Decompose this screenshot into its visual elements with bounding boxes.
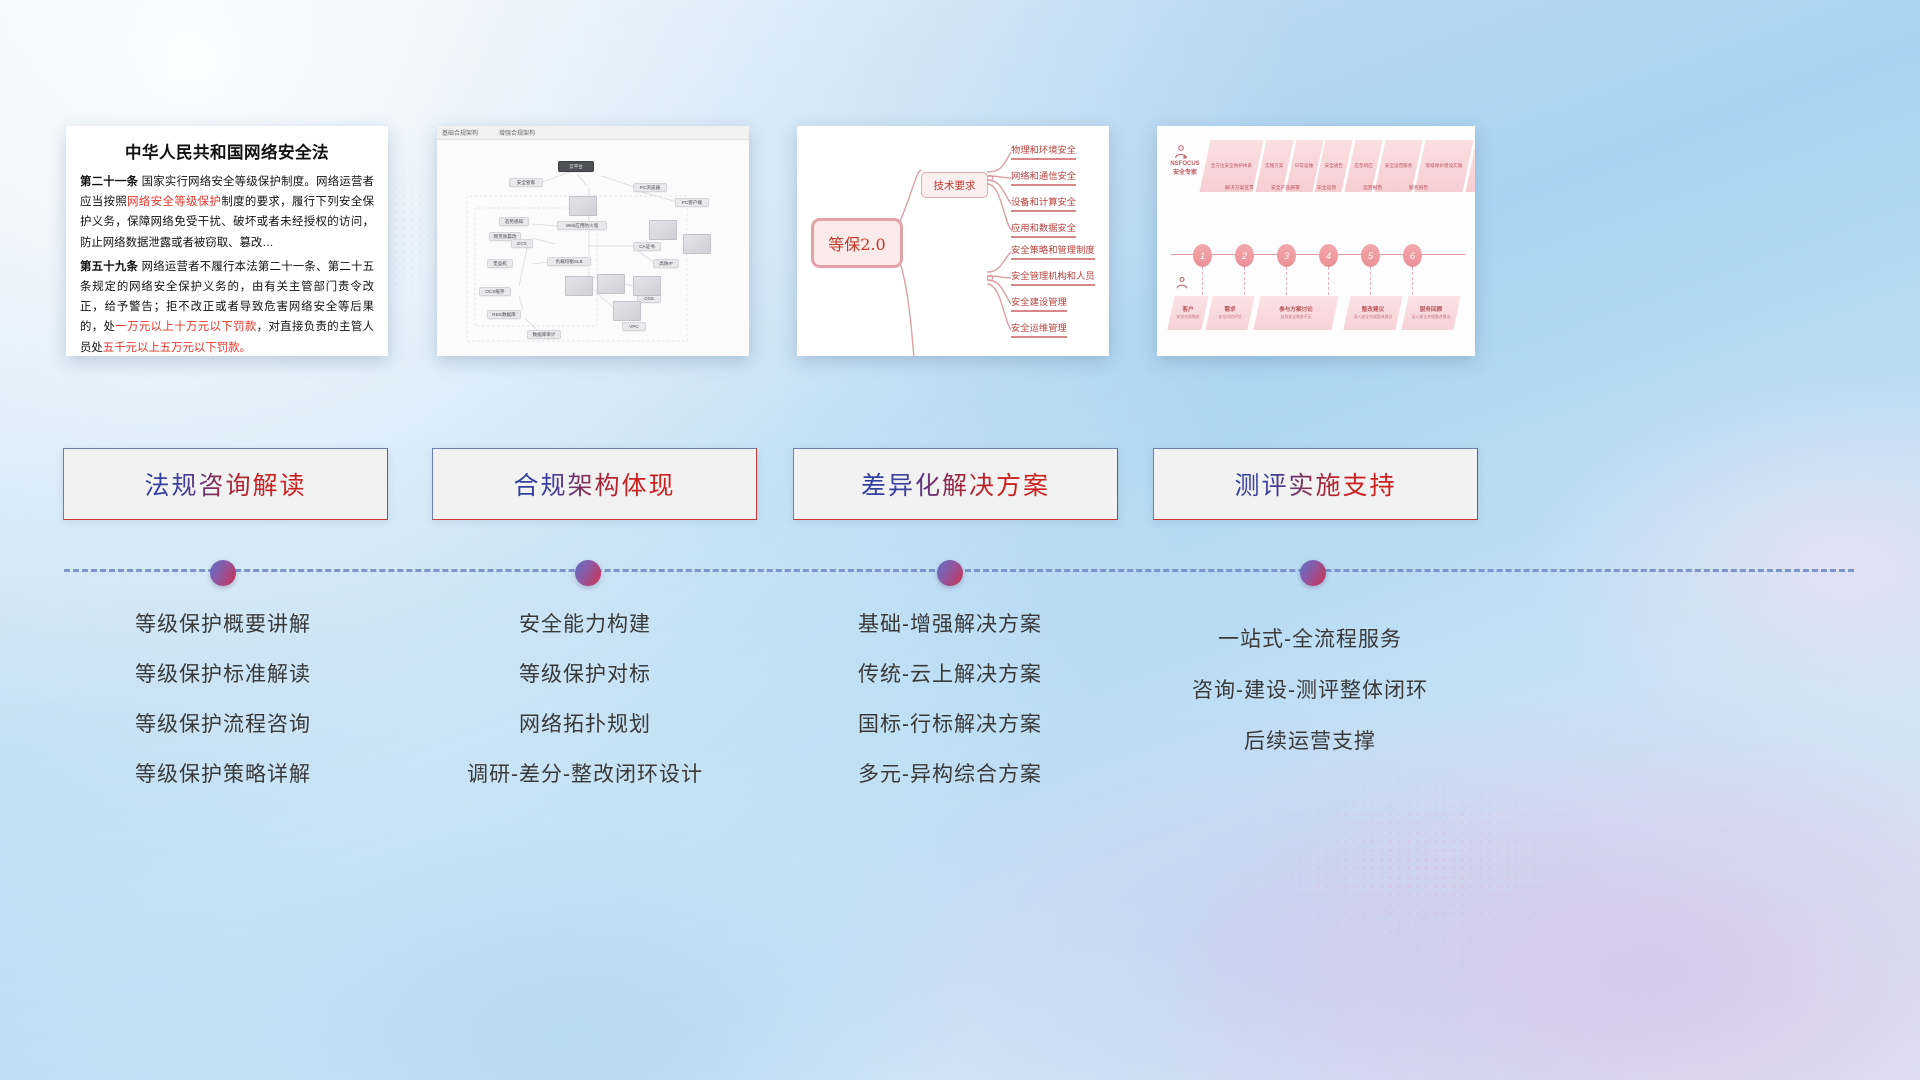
mindmap-leaf-node[interactable]: 物理和环境安全 [1011, 142, 1076, 160]
nsfocus-bottom-box-title: 需求 [1224, 306, 1235, 314]
architecture-node: CA证书 [633, 242, 661, 251]
list-item: 等级保护标准解读 [43, 650, 403, 700]
architecture-server-icon [683, 234, 711, 254]
law-article-label-59: 第五十九条 [80, 261, 138, 273]
nsfocus-canvas: 全方位安全防护体系实施方案日常运维安全通告应急响应安全运营服务等级保护建设实施等… [1157, 126, 1475, 356]
list-item: 网络拓扑规划 [405, 700, 765, 750]
nsfocus-step-tick [1328, 267, 1330, 295]
list-item: 等级保护策略详解 [43, 750, 403, 800]
architecture-server-icon [649, 220, 677, 240]
mindmap-leaf-node[interactable]: 安全运维管理 [1011, 320, 1067, 338]
mindmap-card[interactable]: 等保2.0 技术要求物理和环境安全网络和通信安全设备和计算安全应用和数据安全管理… [797, 126, 1109, 356]
mindmap-canvas: 等保2.0 技术要求物理和环境安全网络和通信安全设备和计算安全应用和数据安全管理… [797, 126, 1109, 356]
list-item: 调研-差分-整改闭环设计 [405, 750, 765, 800]
nsfocus-bottom-box-sub: 自身安全需求不足 [1280, 314, 1311, 320]
section-heading-row: 法规咨询解读 合规架构体现 差异化解决方案 测评实施支持 [0, 448, 1920, 520]
architecture-server-icon [597, 274, 625, 294]
nsfocus-bottom-box-text: 需求安全风险评估 [1209, 296, 1251, 330]
law-seg-59-3-highlight: 五千元以上五万元以下罚款。 [103, 342, 251, 354]
timeline-dot-3[interactable] [937, 560, 963, 586]
mindmap-leaf-node[interactable]: 应用和数据安全 [1011, 220, 1076, 238]
item-list-compliance-architecture: 安全能力构建等级保护对标网络拓扑规划调研-差分-整改闭环设计 [405, 600, 765, 800]
architecture-node: OCS缓存 [479, 287, 511, 296]
nsfocus-brand: NSFOCUS 安全专家 [1163, 160, 1207, 178]
architecture-canvas: 基础合规架构 增强合规架构 [437, 126, 749, 356]
security-expert-icon [1173, 144, 1189, 160]
nsfocus-bottom-box-title: 客户 [1182, 306, 1193, 314]
item-list-differentiated-solution: 基础-增强解决方案传统-云上解决方案国标-行标解决方案多元-异构综合方案 [770, 600, 1130, 800]
timeline-dot-2[interactable] [575, 560, 601, 586]
section-heading-label-3: 测评实施支持 [1234, 466, 1396, 502]
nsfocus-step-node[interactable]: 4 [1319, 244, 1338, 267]
architecture-node: Web应用防火墙 [557, 221, 607, 230]
law-seg-21-1-highlight: 网络安全等级保护 [127, 196, 221, 208]
nsfocus-top-label: 解决方案宣贯 [1225, 184, 1254, 191]
architecture-server-icon [569, 196, 597, 216]
architecture-node: 负载均衡SLB [547, 257, 591, 266]
nsfocus-bottom-box-sub: 安全风险评估 [1218, 314, 1241, 320]
nsfocus-step-tick [1412, 267, 1414, 295]
nsfocus-bottom-box-text: 整改建议深入安全合规整改建议 [1347, 296, 1399, 330]
list-item: 等级保护流程咨询 [43, 700, 403, 750]
thumbnail-card-row: 中华人民共和国网络安全法 第二十一条 国家实行网络安全等级保护制度。网络运营者应… [0, 126, 1920, 362]
list-item: 基础-增强解决方案 [770, 600, 1130, 650]
list-item: 等级保护概要讲解 [43, 600, 403, 650]
nsfocus-top-label: 安全产品部署 [1271, 184, 1300, 191]
list-item: 安全能力构建 [405, 600, 765, 650]
nsfocus-bottom-box-text: 服务回顾深入安全合规整改建议 [1405, 296, 1457, 330]
section-heading-label-2: 差异化解决方案 [861, 466, 1050, 502]
client-person-icon [1175, 276, 1189, 290]
mindmap-leaf-node[interactable]: 安全管理机构和人员 [1011, 268, 1095, 286]
nsfocus-brand-sub: 安全专家 [1163, 169, 1207, 178]
section-item-lists: 等级保护概要讲解等级保护标准解读等级保护流程咨询等级保护策略详解 安全能力构建等… [0, 600, 1920, 850]
architecture-server-icon [613, 301, 641, 321]
list-item: 传统-云上解决方案 [770, 650, 1130, 700]
architecture-node: PC客户端 [675, 198, 709, 207]
architecture-server-icon [633, 276, 661, 296]
nsfocus-step-tick [1244, 267, 1246, 295]
architecture-node: ECS [511, 239, 533, 248]
architecture-diagram-card[interactable]: 基础合规架构 增强合规架构 [437, 126, 749, 356]
list-item: 一站式-全流程服务 [1130, 614, 1490, 665]
mindmap-leaf-node[interactable]: 安全策略和管理制度 [1011, 242, 1095, 260]
nsfocus-step-node[interactable]: 1 [1193, 244, 1212, 267]
nsfocus-step-node[interactable]: 3 [1277, 244, 1296, 267]
architecture-node: 云平台 [558, 161, 594, 172]
nsfocus-bottom-box-sub: 深入安全合规整改建议 [1412, 314, 1451, 320]
architecture-node: RDS数据库 [487, 310, 521, 319]
nsfocus-step-node[interactable]: 2 [1235, 244, 1254, 267]
nsfocus-step-tick [1286, 267, 1288, 295]
law-card-body: 中华人民共和国网络安全法 第二十一条 国家实行网络安全等级保护制度。网络运营者应… [66, 126, 388, 356]
nsfocus-chip-band: 全方位安全防护体系实施方案日常运维安全通告应急响应安全运营服务等级保护建设实施等… [1165, 140, 1467, 192]
law-card-title: 中华人民共和国网络安全法 [80, 139, 374, 163]
item-list-evaluation-support: 一站式-全流程服务咨询-建设-测评整体闭环后续运营支撑 [1130, 614, 1490, 767]
architecture-node: 数据库审计 [527, 330, 561, 339]
nsfocus-bottom-box-sub: 深入安全合规整改建议 [1354, 314, 1393, 320]
nsfocus-timeline-card[interactable]: 全方位安全防护体系实施方案日常运维安全通告应急响应安全运营服务等级保护建设实施等… [1157, 126, 1475, 356]
law-paragraph-21: 第二十一条 国家实行网络安全等级保护制度。网络运营者应当按照网络安全等级保护制度… [80, 172, 374, 253]
architecture-node: 高防IP [653, 259, 679, 268]
mindmap-branch-node[interactable]: 技术要求 [921, 172, 988, 198]
mindmap-leaf-node[interactable]: 网络和通信安全 [1011, 168, 1076, 186]
nsfocus-step-tick [1370, 267, 1372, 295]
nsfocus-bottom-box-sub: 安全合规需求 [1176, 314, 1199, 320]
mindmap-root-node[interactable]: 等保2.0 [811, 218, 903, 268]
law-text-card[interactable]: 中华人民共和国网络安全法 第二十一条 国家实行网络安全等级保护制度。网络运营者应… [66, 126, 388, 356]
nsfocus-top-label: 运营报告 [1363, 184, 1382, 191]
list-item: 后续运营支撑 [1130, 716, 1490, 767]
nsfocus-top-label: 安全运营 [1317, 184, 1336, 191]
section-heading-label-0: 法规咨询解读 [144, 466, 306, 502]
architecture-node: PC浏览器 [633, 183, 667, 192]
mindmap-leaf-node[interactable]: 安全建设管理 [1011, 294, 1067, 312]
law-article-label-21: 第二十一条 [80, 176, 138, 188]
nsfocus-step-node[interactable]: 6 [1403, 244, 1422, 267]
nsfocus-top-label: 服务报告 [1409, 184, 1428, 191]
section-heading-box-differentiated-solution[interactable]: 差异化解决方案 [793, 448, 1118, 520]
section-heading-box-evaluation-support[interactable]: 测评实施支持 [1153, 448, 1478, 520]
list-item: 国标-行标解决方案 [770, 700, 1130, 750]
nsfocus-bottom-box-text: 参与方案讨论自身安全需求不足 [1257, 296, 1335, 330]
nsfocus-brand-name: NSFOCUS [1163, 160, 1207, 169]
nsfocus-bottom-box-text: 客户安全合规需求 [1171, 296, 1205, 330]
timeline-strip [0, 560, 1920, 588]
list-item: 咨询-建设-测评整体闭环 [1130, 665, 1490, 716]
architecture-server-icon [565, 276, 593, 296]
mindmap-leaf-node[interactable]: 设备和计算安全 [1011, 194, 1076, 212]
nsfocus-bottom-box-title: 参与方案讨论 [1279, 306, 1313, 314]
list-item: 等级保护对标 [405, 650, 765, 700]
nsfocus-step-tick [1202, 267, 1204, 295]
section-heading-box-compliance-architecture[interactable]: 合规架构体现 [432, 448, 757, 520]
architecture-node: VPC [622, 322, 646, 331]
architecture-node: 堡垒机 [487, 259, 513, 268]
architecture-node: 安全管家 [509, 178, 543, 187]
timeline-dot-1[interactable] [210, 560, 236, 586]
law-paragraph-59: 第五十九条 网络运营者不履行本法第二十一条、第二十五条规定的网络安全保护义务的，… [80, 257, 374, 356]
list-item: 多元-异构综合方案 [770, 750, 1130, 800]
nsfocus-chip-label: 等级保护测评整改建议 [1471, 140, 1475, 192]
timeline-dot-4[interactable] [1300, 560, 1326, 586]
architecture-node: 态势感知 [499, 217, 529, 226]
section-heading-box-regulation-consulting[interactable]: 法规咨询解读 [63, 448, 388, 520]
nsfocus-bottom-box-title: 服务回顾 [1420, 306, 1442, 314]
law-seg-59-1-highlight: 一万元以上十万元以下罚款 [115, 321, 256, 333]
nsfocus-bottom-box-title: 整改建议 [1362, 306, 1384, 314]
nsfocus-step-node[interactable]: 5 [1361, 244, 1380, 267]
section-heading-label-1: 合规架构体现 [513, 466, 675, 502]
item-list-regulation-consulting: 等级保护概要讲解等级保护标准解读等级保护流程咨询等级保护策略详解 [43, 600, 403, 800]
